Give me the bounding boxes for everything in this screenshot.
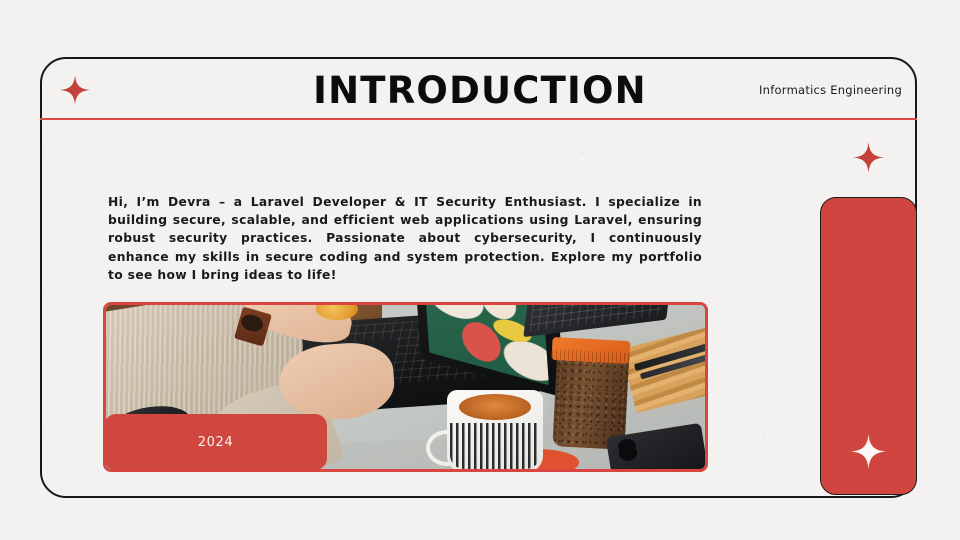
- year-badge: 2024: [104, 414, 327, 470]
- sparkle-star-icon: [853, 141, 884, 174]
- tea-liquid: [459, 394, 531, 420]
- sparkle-star-icon: [851, 433, 886, 470]
- year-badge-label: 2024: [198, 435, 233, 450]
- sparkle-star-icon: [60, 74, 90, 106]
- mug-stripe-pattern: [450, 423, 540, 469]
- department-label: Informatics Engineering: [759, 83, 902, 97]
- bio-paragraph: Hi, I’m Devra – a Laravel Developer & IT…: [108, 193, 702, 284]
- pastry: [316, 302, 358, 320]
- header-divider: [40, 118, 917, 120]
